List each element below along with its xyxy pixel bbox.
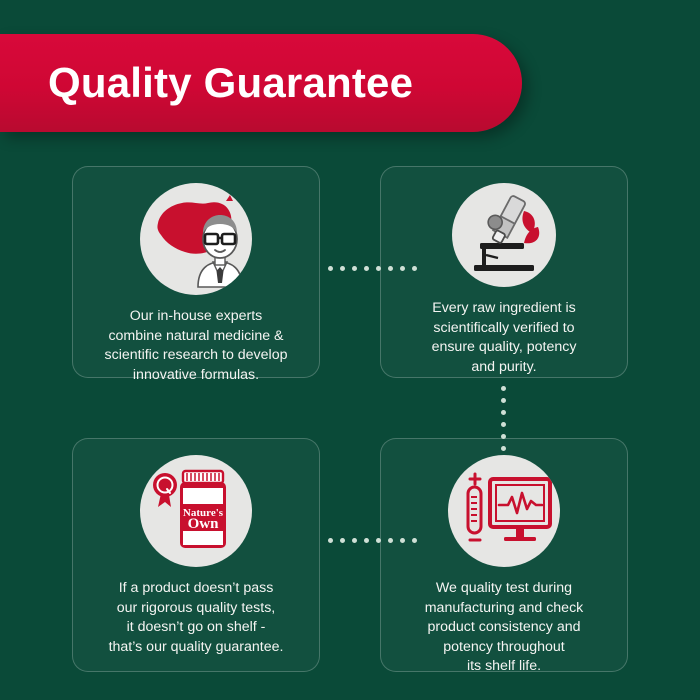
dot: [340, 266, 345, 271]
header-banner: Quality Guarantee: [0, 34, 522, 132]
connector-card2-to-card4: [501, 386, 506, 451]
connector-card1-to-card2: [328, 266, 417, 271]
supplement-bottle-award-icon: Nature's Own: [140, 455, 252, 567]
dot: [388, 266, 393, 271]
card-text: Our in-house experts combine natural med…: [93, 307, 300, 385]
monitor-ecg-thermometer-icon: [448, 455, 560, 567]
brand-line-2: Own: [188, 516, 220, 532]
dot: [501, 422, 506, 427]
australia-map-scientist-icon: [140, 183, 252, 295]
dot: [352, 538, 357, 543]
microscope-leaf-icon: [452, 183, 556, 287]
dot: [501, 386, 506, 391]
card-quality-test-manufacturing: We quality test during manufacturing and…: [380, 438, 628, 672]
dot: [328, 266, 333, 271]
dot: [352, 266, 357, 271]
card-in-house-experts: Our in-house experts combine natural med…: [72, 166, 320, 378]
dot: [501, 410, 506, 415]
dot: [340, 538, 345, 543]
dot: [501, 434, 506, 439]
dot: [501, 446, 506, 451]
dot: [400, 266, 405, 271]
banner-shape: Quality Guarantee: [0, 34, 522, 132]
feature-card-grid: Our in-house experts combine natural med…: [72, 166, 628, 672]
dot: [388, 538, 393, 543]
card-text: We quality test during manufacturing and…: [413, 579, 596, 677]
dot: [364, 538, 369, 543]
dot: [376, 266, 381, 271]
dot: [400, 538, 405, 543]
dot: [376, 538, 381, 543]
card-text: If a product doesn’t pass our rigorous q…: [97, 579, 296, 657]
card-text: Every raw ingredient is scientifically v…: [420, 299, 589, 377]
award-ribbon: [153, 473, 177, 507]
dot: [412, 538, 417, 543]
card-quality-guarantee-shelf: Nature's Own If a product doesn’t pass o…: [72, 438, 320, 672]
dot: [364, 266, 369, 271]
connector-card3-to-card4: [328, 538, 417, 543]
page-title: Quality Guarantee: [48, 59, 413, 107]
dot: [412, 266, 417, 271]
dot: [328, 538, 333, 543]
card-raw-ingredient-verified: Every raw ingredient is scientifically v…: [380, 166, 628, 378]
dot: [501, 398, 506, 403]
